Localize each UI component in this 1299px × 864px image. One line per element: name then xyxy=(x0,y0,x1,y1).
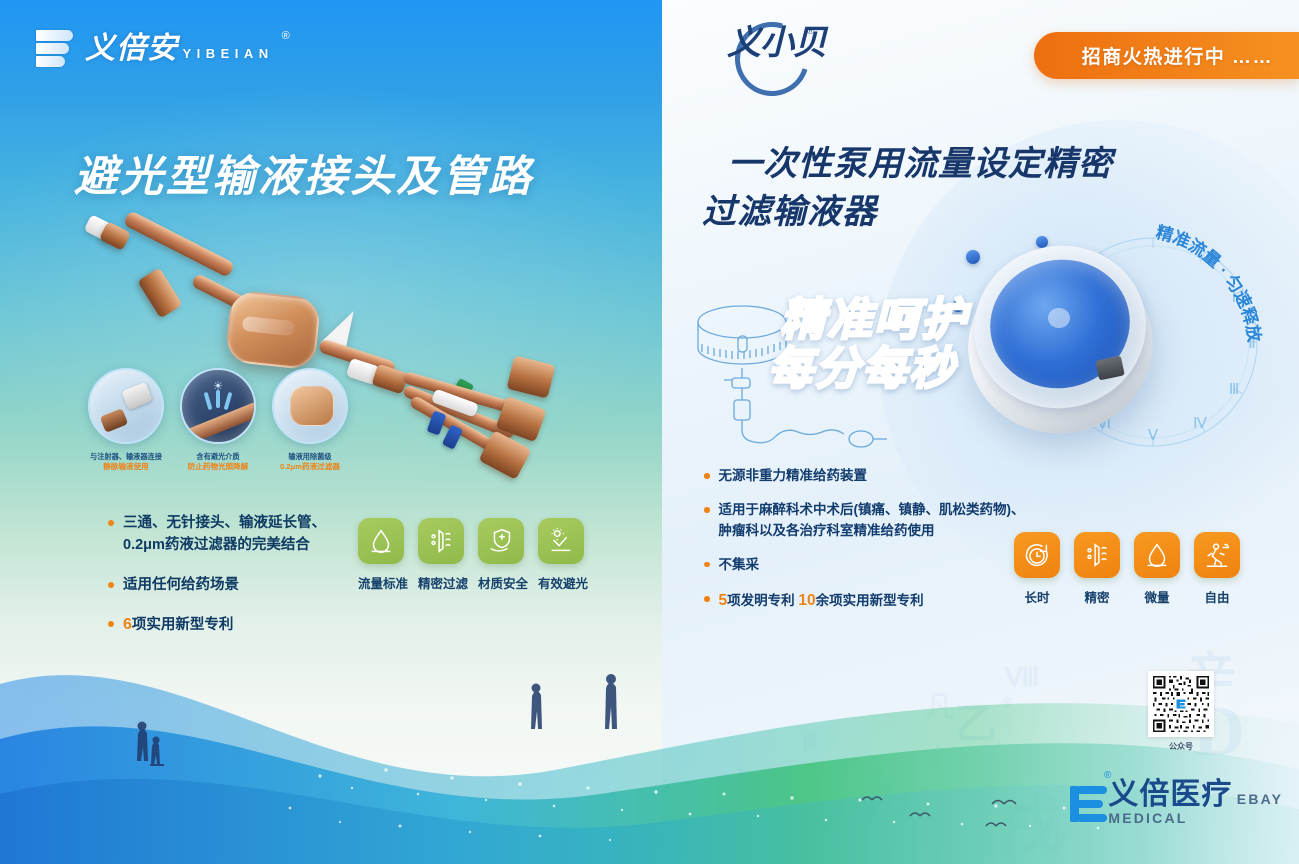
product-needle-free-a xyxy=(507,355,556,398)
bullet-dot-icon xyxy=(704,507,710,513)
left-panel-title: 避光型输液接头及管路 xyxy=(74,142,534,204)
recruitment-banner-text: 招商火热进行中 …… xyxy=(1082,42,1273,69)
qr-code-label: 公众号 xyxy=(1148,741,1214,752)
feature-label: 微量 xyxy=(1134,587,1180,606)
feature-label: 材质安全 xyxy=(478,573,524,592)
product-tee-port xyxy=(137,267,182,318)
product-filter-chamber xyxy=(224,289,321,370)
decor-char: % xyxy=(1036,812,1068,849)
feature-item: 长时 xyxy=(1014,532,1060,606)
left-product-panel: 义倍安 YIBEIAN ® 避光型输液接头及管路 xyxy=(0,0,662,864)
bullet-text: 无源非重力精准给药装置 xyxy=(719,466,868,486)
product-blue-clip-b xyxy=(442,424,463,449)
ebay-medical-logo-icon xyxy=(1070,786,1099,822)
bullet-item: 三通、无针接头、输液延长管、 0.2μm药液过滤器的完美结合 xyxy=(108,512,326,557)
feature-label: 自由 xyxy=(1194,587,1240,606)
invention-patent-count: 5 xyxy=(719,592,728,609)
feature-label: 有效避光 xyxy=(538,573,584,592)
feature-item: 微量 xyxy=(1134,532,1180,606)
right-panel-title: 一次性泵用流量设定精密 过滤输液器 xyxy=(728,140,1158,237)
long-duration-clock-icon xyxy=(1014,532,1060,578)
wechat-qr-block: 公众号 xyxy=(1148,671,1214,752)
left-bullet-list: 三通、无针接头、输液延长管、 0.2μm药液过滤器的完美结合 适用任何给药场景 … xyxy=(108,512,326,655)
callout-item: ☀ 含有避光介质 防止药物光照降解 xyxy=(180,368,256,472)
droplet-decor xyxy=(966,250,980,264)
feature-label: 长时 xyxy=(1014,587,1060,606)
feature-item: 材质安全 xyxy=(478,518,524,592)
decor-char: Ⅲ xyxy=(802,730,817,756)
bullet-text: 三通、无针接头、输液延长管、 0.2μm药液过滤器的完美结合 xyxy=(123,512,326,557)
bullet-dot-icon xyxy=(704,596,710,602)
registered-trademark-icon: ® xyxy=(282,30,290,42)
yibeian-logo: 义倍安 YIBEIAN ® xyxy=(36,28,274,70)
right-bullet-list: 无源非重力精准给药装置 适用于麻醉科术中术后(镇痛、镇静、肌松类药物)、 肿瘤科… xyxy=(704,466,1064,626)
yixiaobei-logo: 义小贝 ® xyxy=(727,26,826,60)
patent-count: 6 xyxy=(123,616,132,633)
utility-patent-count: 10 xyxy=(798,592,815,609)
bullet-text: 6项实用新型专利 xyxy=(123,613,233,638)
registered-trademark-icon: ® xyxy=(1104,770,1111,781)
callout-item: 输液用除菌级 0.2μm药液过滤器 xyxy=(272,368,348,472)
bullet-text: 不集采 xyxy=(719,555,760,575)
right-slogan: 精准呵护 每分每秒 xyxy=(780,296,968,393)
decor-char: Ⅷ xyxy=(1005,663,1039,693)
right-feature-icons: 长时 精密 微量 自由 xyxy=(1014,532,1240,606)
callout-line1: 与注射器、输液器连接 xyxy=(88,452,164,462)
feature-item: 有效避光 xyxy=(538,518,584,592)
arc-slogan-text: 精准流量 · 匀速释放 xyxy=(1154,222,1265,345)
decor-char: @ xyxy=(1002,800,1028,832)
callout-line2: 0.2μm药液过滤器 xyxy=(272,462,348,473)
poster-root: 义倍安 YIBEIAN ® 避光型输液接头及管路 xyxy=(0,0,1299,864)
decor-char: 乙 xyxy=(955,690,997,751)
bullet-dot-icon xyxy=(108,520,114,526)
precision-filter-icon xyxy=(1074,532,1120,578)
slogan-line1: 精准呵护 xyxy=(780,294,968,345)
feature-label: 精密 xyxy=(1074,587,1120,606)
bullet-item: 不集采 xyxy=(704,555,1064,575)
free-movement-icon xyxy=(1194,532,1240,578)
bullet-text: 5项发明专利 10余项实用新型专利 xyxy=(719,589,924,612)
bullet-text: 适用任何给药场景 xyxy=(123,574,239,596)
bullet-item: 无源非重力精准给药装置 xyxy=(704,466,1064,486)
bullet-dot-icon xyxy=(108,582,114,588)
decor-char: A xyxy=(648,815,681,864)
bullet-text: 适用于麻醉科术中术后(镇痛、镇静、肌松类药物)、 肿瘤科以及各治疗科室精准给药使… xyxy=(719,500,1025,541)
brand-names: 义倍医疗 EBAY MEDICAL xyxy=(1108,780,1299,828)
syringe-connector-icon xyxy=(88,368,164,444)
droplet-flow-icon xyxy=(358,518,404,564)
bullet-item: 6项实用新型专利 xyxy=(108,613,326,638)
decor-char: 王 xyxy=(752,820,796,864)
yibeian-logo-en: YIBEIAN xyxy=(182,46,273,61)
light-shield-icon: ☀ xyxy=(180,368,256,444)
bullet-dot-icon xyxy=(108,621,114,627)
yibeian-logo-mark-icon xyxy=(36,28,78,70)
feature-item: 精密 xyxy=(1074,532,1120,606)
brand-name-cn: 义倍医疗 xyxy=(1108,778,1232,811)
left-callout-group: 与注射器、输液器连接 静脉输液使用 ☀ 含有避光介质 防止药物光照降解 输液用 xyxy=(88,368,348,472)
feature-item: 精密过滤 xyxy=(418,518,464,592)
yixiaobei-logo-cn: 义小贝 xyxy=(727,6,826,62)
material-safety-icon xyxy=(478,518,524,564)
bullet-dot-icon xyxy=(704,473,710,479)
decor-char: ※ xyxy=(1000,693,1013,713)
light-protection-icon xyxy=(538,518,584,564)
feature-item: 自由 xyxy=(1194,532,1240,606)
filter-chamber-icon xyxy=(272,368,348,444)
yibeian-logo-cn: 义倍安 xyxy=(85,32,178,65)
decor-char: Ⅳ xyxy=(808,808,834,842)
yibeian-logo-text: 义倍安 YIBEIAN ® xyxy=(85,34,274,64)
decor-char: 卯 xyxy=(855,755,911,836)
decor-char: 丨 xyxy=(923,735,953,779)
right-title-line2: 过滤输液器 xyxy=(702,188,1158,236)
arc-slogan: 精准流量 · 匀速释放 xyxy=(1028,212,1278,472)
callout-line2: 防止药物光照降解 xyxy=(180,462,256,473)
right-title-line1: 一次性泵用流量设定精密 xyxy=(728,145,1113,183)
callout-line1: 含有避光介质 xyxy=(180,452,256,462)
feature-item: 流量标准 xyxy=(358,518,404,592)
decor-char: 凡 xyxy=(925,682,955,726)
micro-dose-droplet-icon xyxy=(1134,532,1180,578)
qr-code-icon[interactable] xyxy=(1148,671,1214,737)
bullet-item: 适用于麻醉科术中术后(镇痛、镇静、肌松类药物)、 肿瘤科以及各治疗科室精准给药使… xyxy=(704,500,1064,541)
callout-item: 与注射器、输液器连接 静脉输液使用 xyxy=(88,368,164,472)
callout-line2: 静脉输液使用 xyxy=(88,462,164,473)
left-feature-icons: 流量标准 精密过滤 材质安全 有效避光 xyxy=(358,518,584,592)
callout-line1: 输液用除菌级 xyxy=(272,452,348,462)
bullet-item: 适用任何给药场景 xyxy=(108,574,326,596)
product-tube-a xyxy=(123,210,235,278)
ebay-medical-brand: 义倍医疗 EBAY MEDICAL ® xyxy=(1070,780,1299,828)
feature-label: 精密过滤 xyxy=(418,573,464,592)
feature-label: 流量标准 xyxy=(358,573,404,592)
recruitment-banner[interactable]: 招商火热进行中 …… xyxy=(1034,32,1299,79)
bullet-item: 5项发明专利 10余项实用新型专利 xyxy=(704,589,1064,612)
precision-filter-icon xyxy=(418,518,464,564)
slogan-line2: 每分每秒 xyxy=(768,345,968,392)
bullet-dot-icon xyxy=(704,562,710,568)
